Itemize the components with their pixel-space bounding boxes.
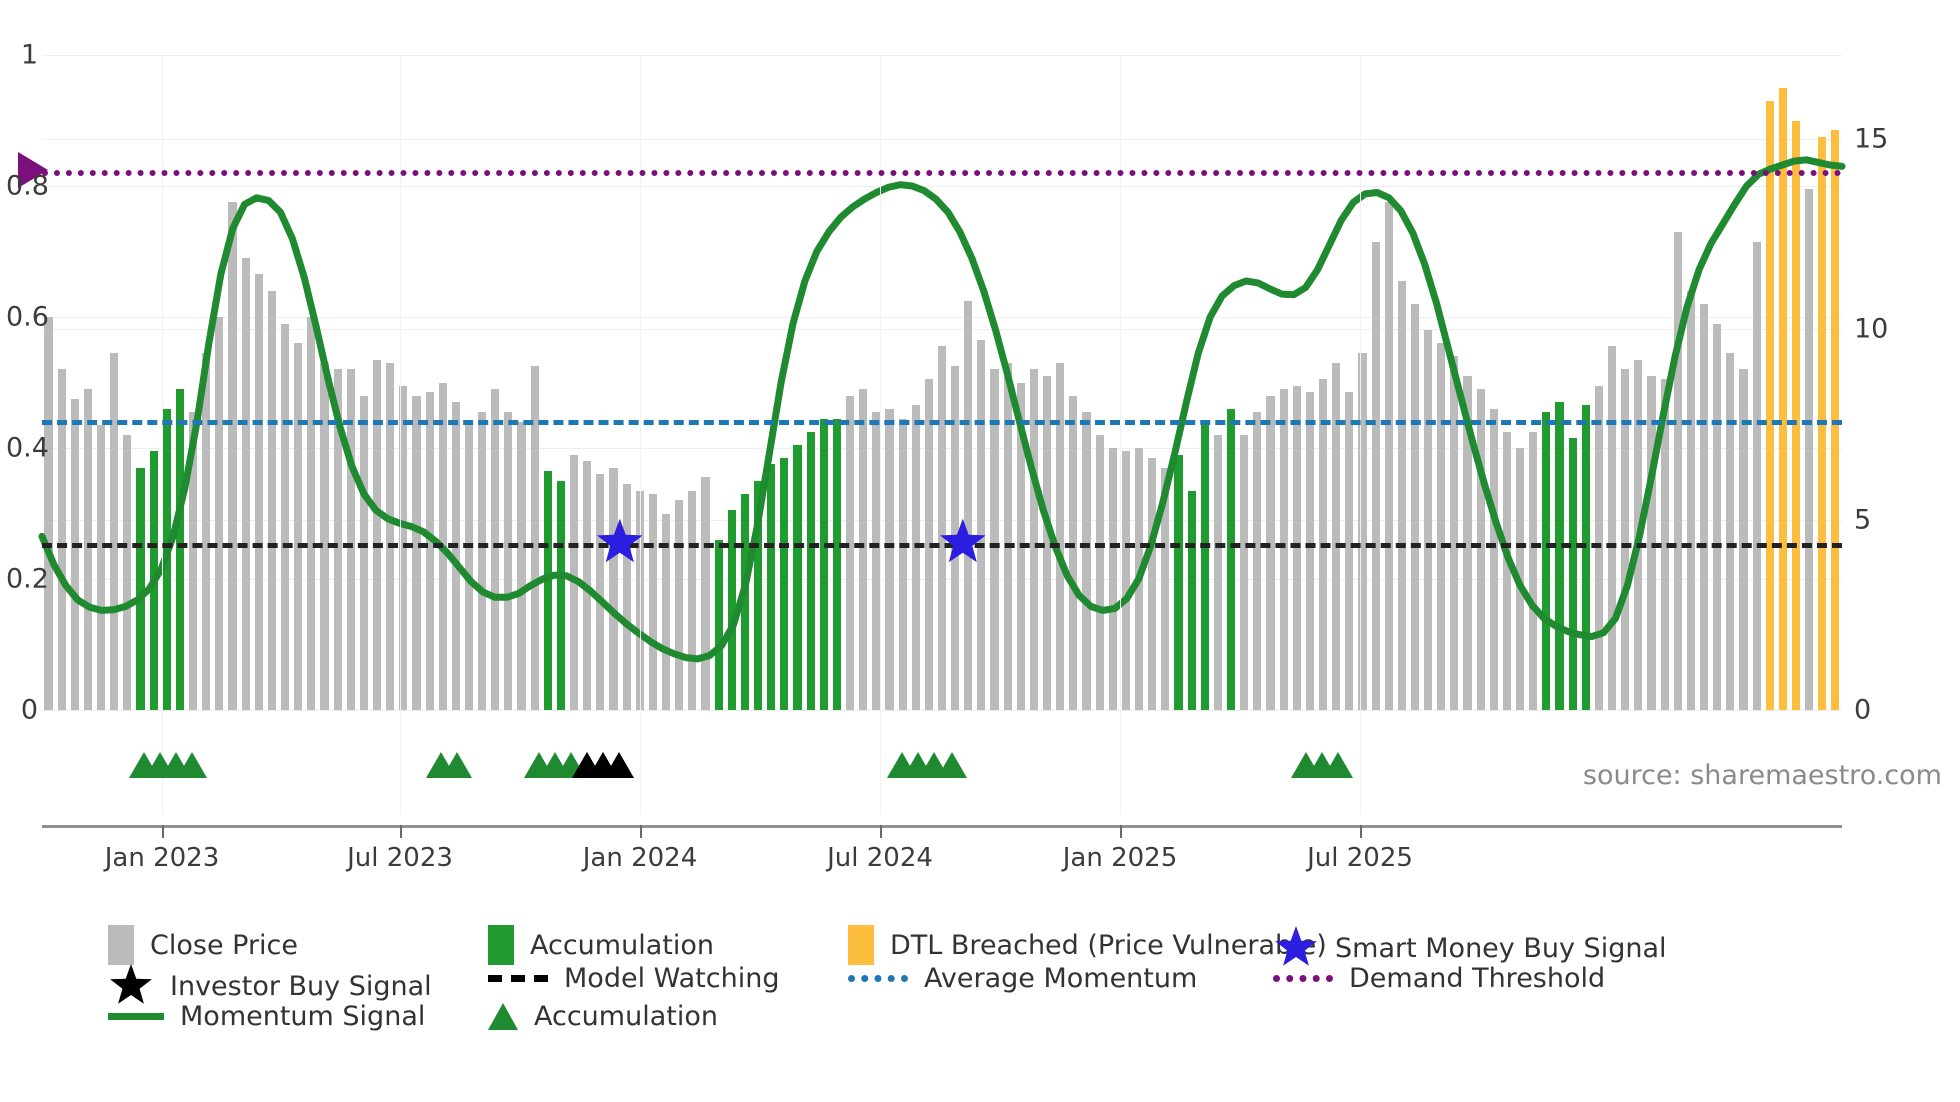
x-axis-tick-mark (640, 825, 642, 838)
x-axis-line (42, 825, 1842, 828)
y-axis-right-tick-label: 10 (1854, 314, 1914, 345)
legend-item-label: Accumulation (530, 930, 714, 961)
legend-item[interactable]: Demand Threshold (1273, 963, 1605, 994)
x-axis-tick-mark (162, 825, 164, 838)
legend-item[interactable]: Model Watching (488, 963, 779, 994)
legend-item-label: Close Price (150, 930, 298, 961)
legend-item-label: Model Watching (564, 963, 779, 994)
x-axis-tick-mark (1120, 825, 1122, 838)
momentum-line-icon (108, 1013, 164, 1020)
momentum-chart: 00.20.40.60.81051015 Jan 2023Jul 2023Jan… (0, 0, 1960, 1102)
legend-item-label: Average Momentum (924, 963, 1197, 994)
x-axis-tick-mark (400, 825, 402, 838)
legend-item-label: Accumulation (534, 1001, 718, 1032)
x-axis-tick-label: Jan 2025 (1063, 843, 1178, 873)
x-axis-tick-label: Jul 2023 (347, 843, 453, 873)
accumulation-triangle-icon (488, 1003, 518, 1030)
legend-item-label: Investor Buy Signal (170, 971, 432, 1002)
x-axis-tick-label: Jul 2025 (1307, 843, 1413, 873)
y-axis-left-tick-label: 0.2 (6, 564, 38, 595)
source-attribution: source: sharemaestro.com (1583, 760, 1942, 791)
y-axis-left-tick-label: 0 (6, 695, 38, 726)
legend-item[interactable]: Accumulation (488, 1001, 718, 1032)
model-watching-dash-icon (488, 975, 548, 982)
legend-item-label: DTL Breached (Price Vulnerable) (890, 930, 1327, 961)
legend-item-label: Momentum Signal (180, 1001, 425, 1032)
average-momentum-dot-icon (848, 975, 908, 982)
legend-item[interactable]: Average Momentum (848, 963, 1197, 994)
x-axis-tick-label: Jul 2024 (827, 843, 933, 873)
legend-item[interactable]: Close Price (108, 925, 298, 965)
y-axis-left-tick-label: 0.6 (6, 302, 38, 333)
y-axis-right-tick-label: 15 (1854, 123, 1914, 154)
demand-threshold-dot-icon (1273, 975, 1333, 982)
y-axis-left-tick-label: 1 (6, 40, 38, 71)
y-axis-left-tick-label: 0.4 (6, 433, 38, 464)
legend-item[interactable]: Momentum Signal (108, 1001, 425, 1032)
y-axis-right-tick-label: 5 (1854, 504, 1914, 535)
x-axis-tick-label: Jan 2024 (583, 843, 698, 873)
y-axis-right-tick-label: 0 (1854, 695, 1914, 726)
legend-item[interactable]: Accumulation (488, 925, 714, 965)
x-axis-tick-label: Jan 2023 (105, 843, 220, 873)
legend-item[interactable]: DTL Breached (Price Vulnerable) (848, 925, 1327, 965)
accumulation-swatch-icon (488, 925, 514, 965)
close-price-swatch-icon (108, 925, 134, 965)
y-axis-left-tick-label: 0.8 (6, 171, 38, 202)
dtl-breached-swatch-icon (848, 925, 874, 965)
x-axis-tick-mark (880, 825, 882, 838)
legend-item-label: Smart Money Buy Signal (1335, 933, 1667, 964)
legend-item-label: Demand Threshold (1349, 963, 1605, 994)
x-axis-tick-mark (1360, 825, 1362, 838)
